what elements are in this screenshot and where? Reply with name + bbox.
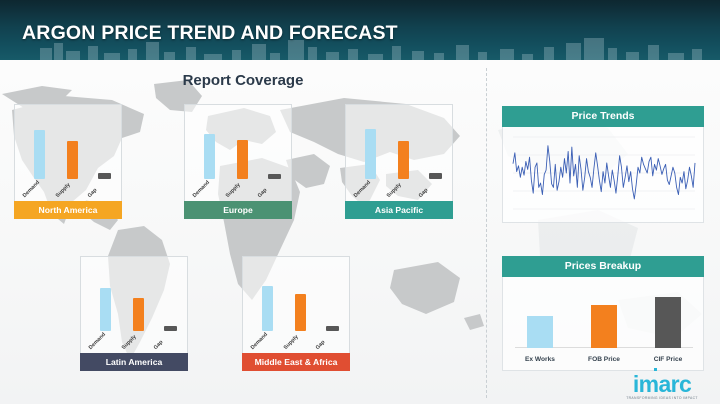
axis-label-demand: Demand xyxy=(88,332,107,351)
region-chart-north-america: Demand Supply Gap xyxy=(14,104,122,201)
bar-supply xyxy=(67,141,78,179)
axis-label-gap: Gap xyxy=(418,187,430,199)
axis-label-supply: Supply xyxy=(225,182,242,199)
axis-label-gap: Gap xyxy=(315,339,327,351)
label-ex-works: Ex Works xyxy=(510,356,570,363)
axis-label-demand: Demand xyxy=(192,180,211,199)
region-label-europe: Europe xyxy=(184,201,292,219)
axis-labels: Demand Supply Gap xyxy=(346,177,454,201)
axis-label-supply: Supply xyxy=(121,334,138,351)
axis-label-demand: Demand xyxy=(353,180,372,199)
axis-label-demand: Demand xyxy=(22,180,41,199)
coverage-section-title: Report Coverage xyxy=(0,72,486,89)
price-trends-title: Price Trends xyxy=(502,106,704,127)
region-chart-asia-pacific: Demand Supply Gap xyxy=(345,104,453,201)
region-label-latin-america: Latin America xyxy=(80,353,188,371)
axis-labels: Demand Supply Gap xyxy=(81,329,189,353)
bar-supply xyxy=(398,141,409,179)
bar-supply xyxy=(237,140,248,179)
bar-supply xyxy=(295,294,306,331)
label-cif-price: CIF Price xyxy=(638,356,698,363)
region-chart-latin-america: Demand Supply Gap xyxy=(80,256,188,353)
axis-label-gap: Gap xyxy=(257,187,269,199)
slide-body: Report Coverage Demand Supply Gap North … xyxy=(0,60,720,404)
logo-wordmark: imarc xyxy=(614,373,710,395)
axis-label-supply: Supply xyxy=(386,182,403,199)
axis-labels: Demand Supply Gap xyxy=(15,177,123,201)
bar-supply xyxy=(133,298,144,331)
region-chart-middle-east-africa: Demand Supply Gap xyxy=(242,256,350,353)
bar-demand xyxy=(262,286,273,331)
prices-breakup-chart: Ex Works FOB Price CIF Price xyxy=(502,277,704,371)
price-trends-panel[interactable]: Price Trends xyxy=(502,106,704,223)
region-card-europe[interactable]: Demand Supply Gap Europe xyxy=(184,104,292,219)
logo-dot-icon xyxy=(654,368,657,371)
axis-label-supply: Supply xyxy=(283,334,300,351)
region-card-north-america[interactable]: Demand Supply Gap North America xyxy=(14,104,122,219)
region-card-latin-america[interactable]: Demand Supply Gap Latin America xyxy=(80,256,188,371)
prices-breakup-title: Prices Breakup xyxy=(502,256,704,277)
bar-demand xyxy=(100,288,111,331)
prices-breakup-panel[interactable]: Prices Breakup Ex Works FOB Price CIF Pr… xyxy=(502,256,704,371)
region-label-north-america: North America xyxy=(14,201,122,219)
panel-divider xyxy=(486,68,487,398)
region-label-asia-pacific: Asia Pacific xyxy=(345,201,453,219)
bar-demand xyxy=(365,129,376,179)
infographic-slide: ARGON PRICE TREND AND FORECAST xyxy=(0,0,720,404)
region-card-asia-pacific[interactable]: Demand Supply Gap Asia Pacific xyxy=(345,104,453,219)
region-card-middle-east-africa[interactable]: Demand Supply Gap Middle East & Africa xyxy=(242,256,350,371)
label-fob-price: FOB Price xyxy=(574,356,634,363)
axis-labels: Demand Supply Gap xyxy=(243,329,351,353)
axis-label-gap: Gap xyxy=(153,339,165,351)
region-chart-europe: Demand Supply Gap xyxy=(184,104,292,201)
bar-demand xyxy=(204,134,215,179)
header-banner: ARGON PRICE TREND AND FORECAST xyxy=(0,0,720,60)
bar-fob-price xyxy=(591,305,617,348)
axis-label-supply: Supply xyxy=(55,182,72,199)
bar-demand xyxy=(34,130,45,179)
bar-ex-works xyxy=(527,316,553,348)
region-label-middle-east-africa: Middle East & Africa xyxy=(242,353,350,371)
axis-label-demand: Demand xyxy=(250,332,269,351)
price-trends-chart xyxy=(502,127,704,223)
imarc-logo[interactable]: imarc TRANSFORMING IDEAS INTO IMPACT xyxy=(614,373,710,400)
axis-label-gap: Gap xyxy=(87,187,99,199)
logo-tagline: TRANSFORMING IDEAS INTO IMPACT xyxy=(614,396,710,400)
price-trends-line-svg xyxy=(503,127,704,223)
page-title: ARGON PRICE TREND AND FORECAST xyxy=(22,22,398,45)
axis-labels: Demand Supply Gap xyxy=(185,177,293,201)
bar-cif-price xyxy=(655,297,681,348)
